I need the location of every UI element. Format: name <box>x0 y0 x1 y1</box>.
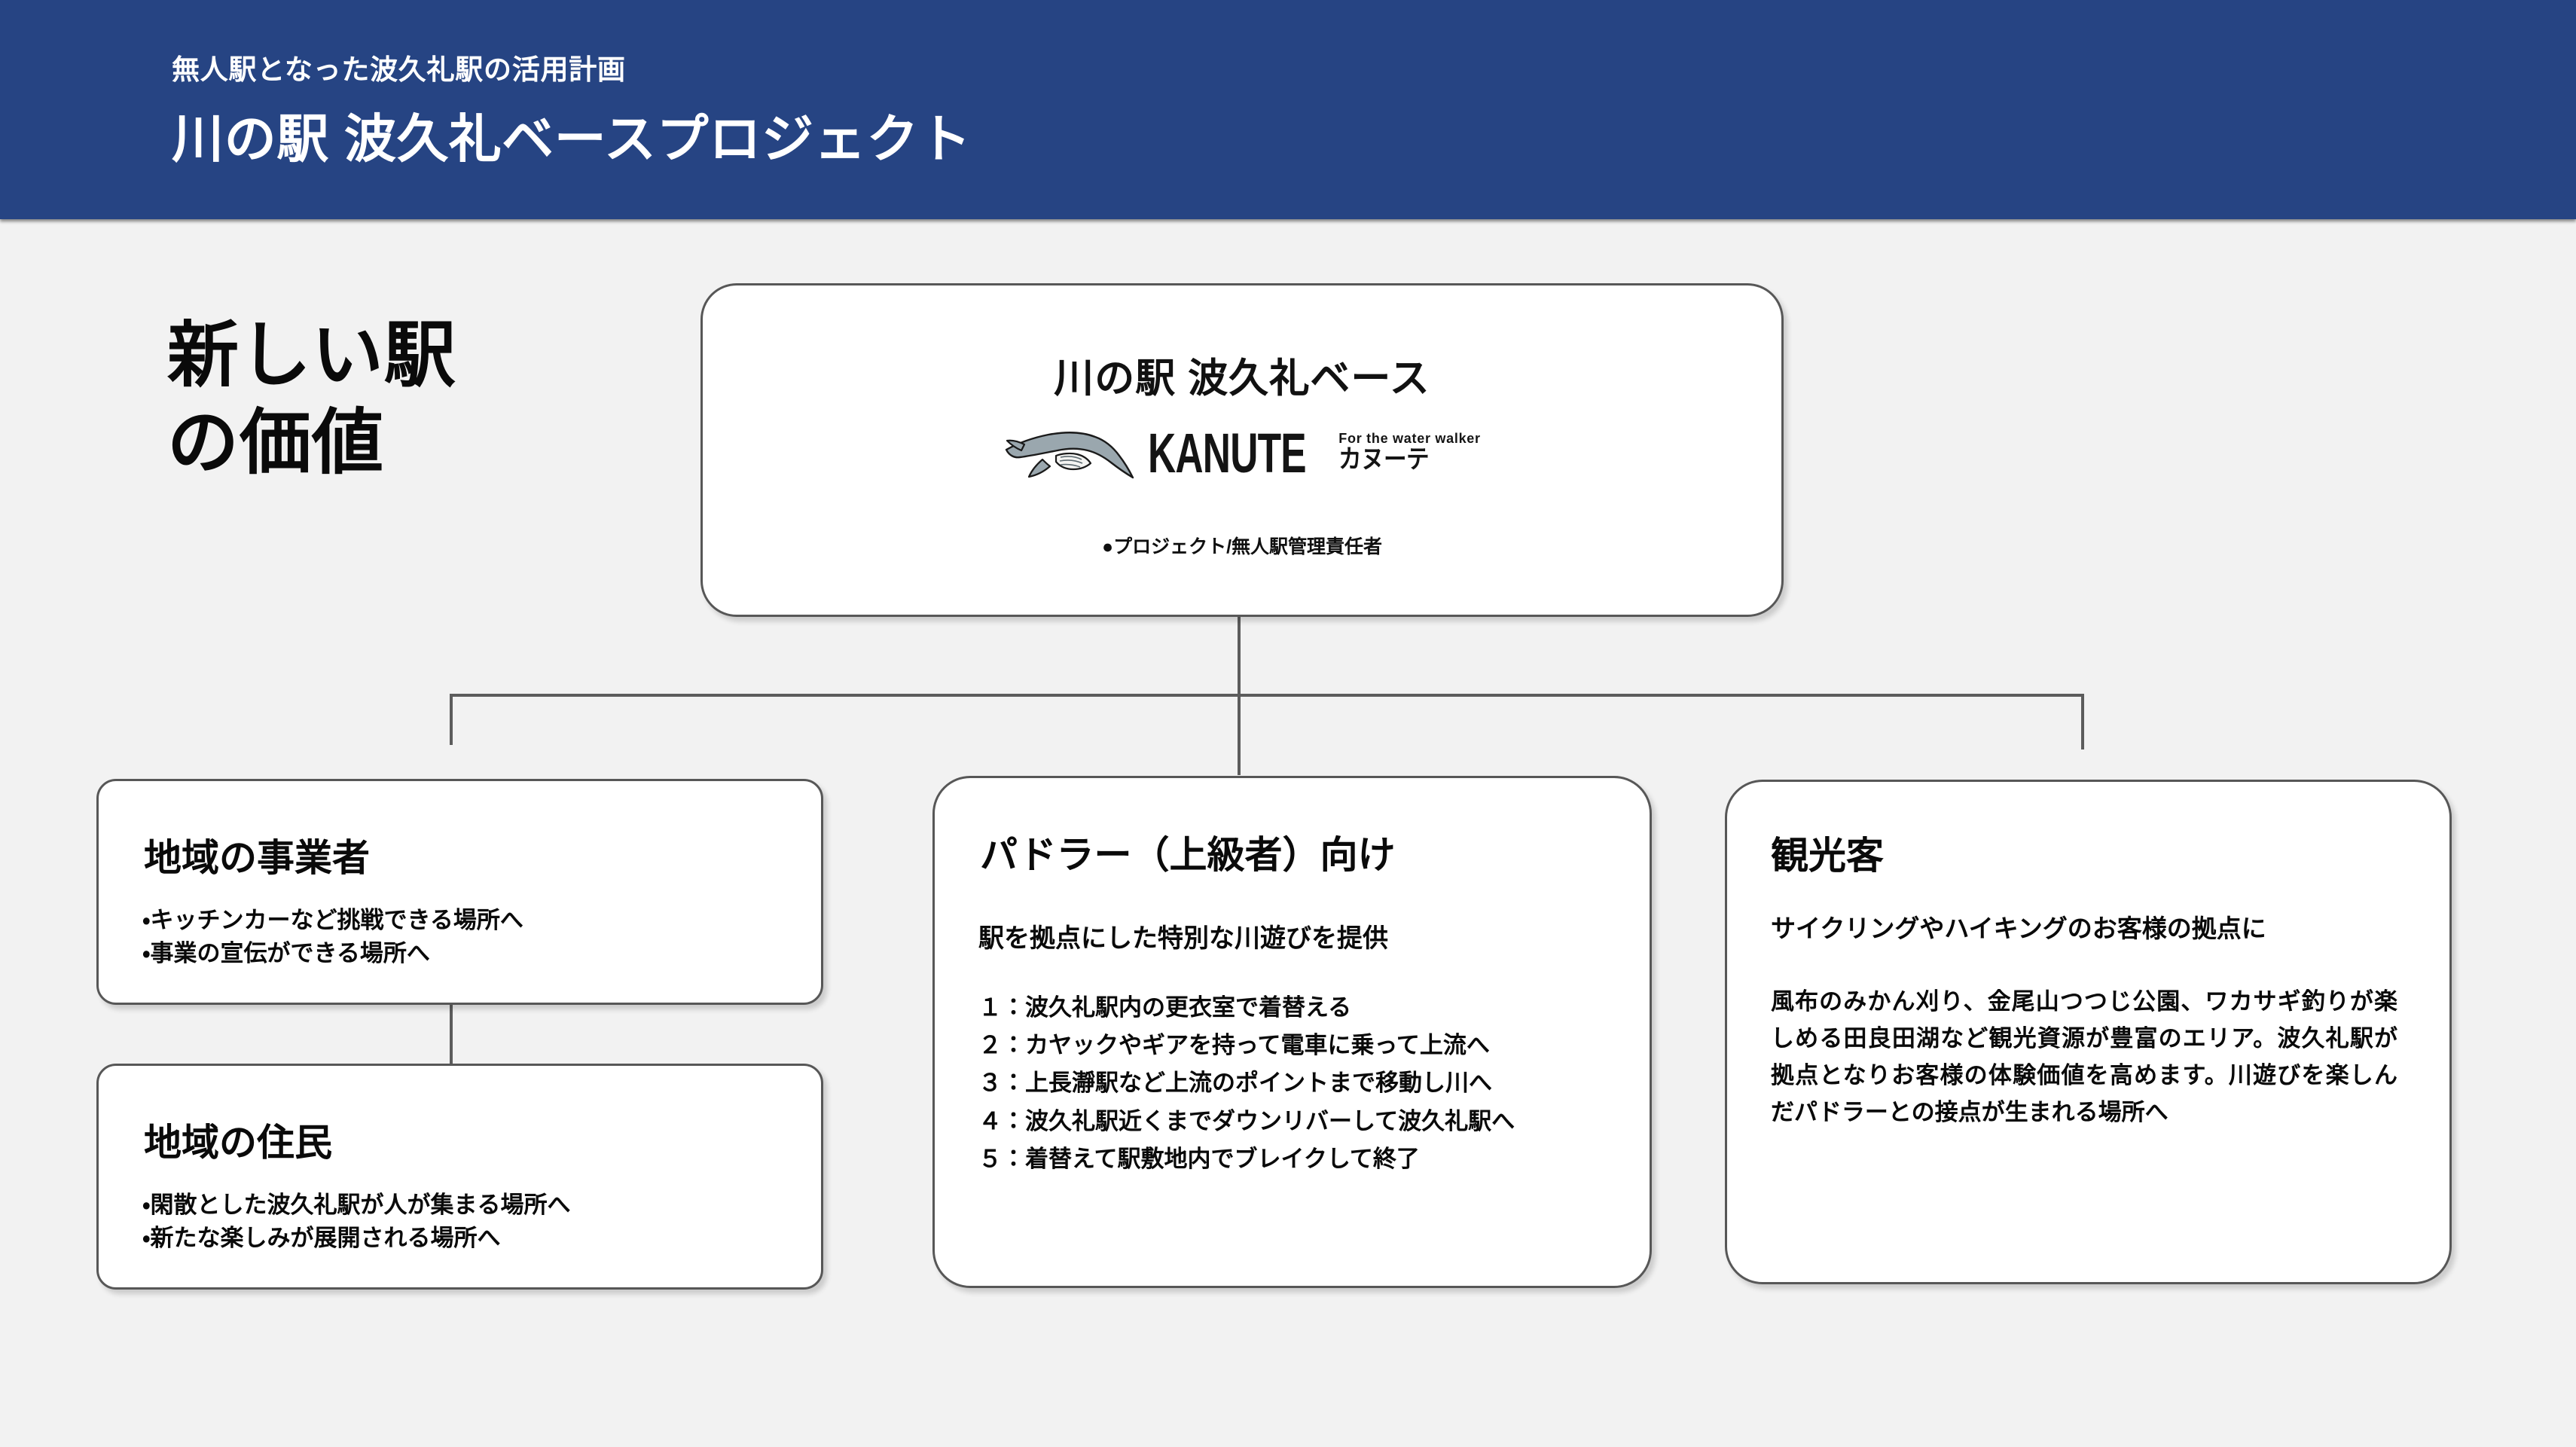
header-band: 無人駅となった波久礼駅の活用計画 川の駅 波久礼ベースプロジェクト <box>0 0 2576 219</box>
connector-drop-center <box>1238 694 1241 775</box>
list-item: ４：波久礼駅近くまでダウンリバーして波久礼駅へ <box>978 1103 1515 1140</box>
card-body-tourist: 風布のみかん刈り、金尾山つつじ公園、ワカサギ釣りが楽しめる田良田湖など観光資源が… <box>1771 984 2397 1131</box>
card-tourist[interactable]: 観光客 サイクリングやハイキングのお客様の拠点に 風布のみかん刈り、金尾山つつじ… <box>1725 780 2452 1284</box>
card-title-local-business: 地域の事業者 <box>144 828 370 882</box>
connector-horizontal-bar <box>450 694 2084 697</box>
card-steps-paddler: １：波久礼駅内の更衣室で着替える ２：カヤックやギアを持って電車に乗って上流へ … <box>978 989 1515 1178</box>
connector-drop-right <box>2081 694 2084 749</box>
kanute-logo: KANUTE For the water walker カヌーテ <box>703 425 1781 481</box>
list-item: ３：上長瀞駅など上流のポイントまで移動し川へ <box>978 1064 1515 1102</box>
card-local-residents[interactable]: 地域の住民 ・閑散とした波久礼駅が人が集まる場所へ ・新たな楽しみが展開される場… <box>96 1064 823 1290</box>
connector-business-to-residents <box>450 1005 453 1065</box>
card-body-local-business: ・キッチンカーなど挑戦できる場所へ ・事業の宣伝ができる場所へ <box>142 904 523 970</box>
card-local-business[interactable]: 地域の事業者 ・キッチンカーなど挑戦できる場所へ ・事業の宣伝ができる場所へ <box>96 779 823 1005</box>
header-eyebrow: 無人駅となった波久礼駅の活用計画 <box>172 47 626 87</box>
card-lead-paddler: 駅を拠点にした特別な川遊びを提供 <box>978 917 1388 954</box>
section-heading-line-1: 新しい駅 <box>167 313 456 400</box>
page-title: 川の駅 波久礼ベースプロジェクト <box>172 96 972 172</box>
root-card-note: ●プロジェクト/無人駅管理責任者 <box>703 532 1781 559</box>
list-item: ５：着替えて駅敷地内でブレイクして終了 <box>978 1140 1515 1178</box>
root-card-title: 川の駅 波久礼ベース <box>703 346 1781 404</box>
list-item: １：波久礼駅内の更衣室で着替える <box>978 989 1515 1027</box>
kanute-wordmark: KANUTE <box>1148 425 1306 481</box>
section-heading: 新しい駅 の価値 <box>167 313 456 487</box>
whale-icon <box>1003 425 1137 481</box>
list-item: ・キッチンカーなど挑戦できる場所へ <box>142 904 523 937</box>
list-item: ・新たな楽しみが展開される場所へ <box>142 1222 571 1255</box>
connector-trunk-vertical <box>1238 617 1241 697</box>
list-item: ・閑散とした波久礼駅が人が集まる場所へ <box>142 1189 571 1222</box>
connector-drop-left <box>450 694 453 745</box>
card-title-tourist: 観光客 <box>1771 826 1884 880</box>
card-title-paddler: パドラー（上級者）向け <box>980 825 1396 879</box>
card-paddler[interactable]: パドラー（上級者）向け 駅を拠点にした特別な川遊びを提供 １：波久礼駅内の更衣室… <box>932 776 1652 1288</box>
root-card[interactable]: 川の駅 波久礼ベース KANUTE For the water walker カ… <box>700 283 1784 617</box>
section-heading-line-2: の価値 <box>167 400 456 487</box>
list-item: ・事業の宣伝ができる場所へ <box>142 937 523 970</box>
list-item: ２：カヤックやギアを持って電車に乗って上流へ <box>978 1027 1515 1064</box>
card-title-local-residents: 地域の住民 <box>144 1113 332 1167</box>
slide-canvas: 無人駅となった波久礼駅の活用計画 川の駅 波久礼ベースプロジェクト 新しい駅 の… <box>0 0 2576 1447</box>
kanute-kana: カヌーテ <box>1338 447 1467 474</box>
card-lead-tourist: サイクリングやハイキングのお客様の拠点に <box>1771 908 2266 945</box>
card-body-local-residents: ・閑散とした波久礼駅が人が集まる場所へ ・新たな楽しみが展開される場所へ <box>142 1189 571 1255</box>
